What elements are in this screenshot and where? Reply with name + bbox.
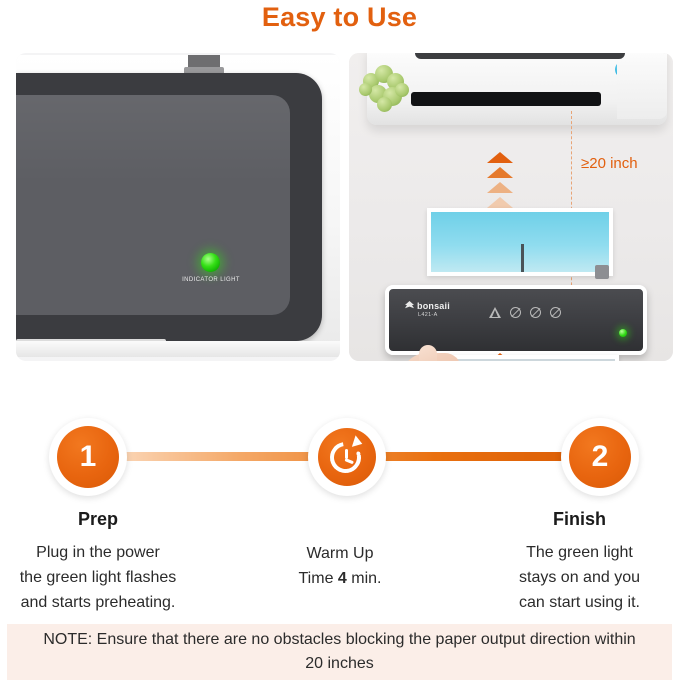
warning-symbol-row <box>489 307 561 318</box>
clock-timer-icon <box>327 437 367 477</box>
photo-tower-detail <box>521 244 524 272</box>
step-badge-1: 1 <box>57 426 119 488</box>
note-banner: NOTE: Ensure that there are no obstacles… <box>7 624 672 680</box>
warmup-value: 4 <box>338 570 347 587</box>
model-label: L421-A <box>418 312 438 318</box>
laminator-lid-frame: INDICATOR LIGHT <box>16 73 322 341</box>
warmup-lead: Warm Up <box>307 545 374 562</box>
brand-label: bonsaii <box>405 301 450 311</box>
step-text-finish: The green light stays on and you can sta… <box>480 540 679 615</box>
warmup-suffix: min. <box>347 570 382 587</box>
shelf-output-slot <box>411 92 601 106</box>
step-text-warmup: Warm UpTime 4 min. <box>240 541 440 591</box>
note-text: NOTE: Ensure that there are no obstacles… <box>35 628 644 676</box>
laminator-top-tab <box>188 55 220 75</box>
warmup-prefix: Time <box>299 570 338 587</box>
bonsaii-leaf-icon <box>405 301 414 310</box>
step-caption-1: Prep Plug in the power the green light f… <box>0 508 196 615</box>
laminator-lid-surface: INDICATOR LIGHT <box>16 95 290 315</box>
laminated-photo-output <box>427 208 613 276</box>
step-node-1[interactable]: 1 <box>49 418 127 496</box>
step-heading-prep: Prep <box>0 508 196 530</box>
laminator-closeup-body: INDICATOR LIGHT <box>16 55 340 357</box>
page-title: Easy to Use <box>0 0 679 34</box>
shelf-side-panel <box>617 59 667 119</box>
step-text-prep: Plug in the power the green light flashe… <box>0 540 196 615</box>
laminator-bottom-edge <box>16 341 340 357</box>
step-caption-2: Finish The green light stays on and you … <box>480 508 679 615</box>
prohibition-icon <box>530 307 541 318</box>
prohibition-icon <box>550 307 561 318</box>
power-plug <box>595 265 609 279</box>
step-node-warmup[interactable] <box>308 418 386 496</box>
chevron-up-icon <box>487 152 513 163</box>
infographic-page: Easy to Use INDICATOR LIGHT <box>0 0 679 684</box>
photo-sky <box>445 359 615 361</box>
step-badge-2: 2 <box>569 426 631 488</box>
clock-arrow-head <box>352 435 364 449</box>
prohibition-icon <box>510 307 521 318</box>
step-caption-warmup: Warm UpTime 4 min. <box>240 541 440 591</box>
step-heading-finish: Finish <box>480 508 679 530</box>
indicator-light-label: INDICATOR LIGHT <box>156 277 266 283</box>
photo-panel-clearance: ≥20 inch bonsaii L421-A <box>349 53 673 361</box>
warning-triangle-icon <box>489 307 501 318</box>
photo-panel-indicator: INDICATOR LIGHT <box>16 53 340 361</box>
chevron-up-icon <box>487 182 513 193</box>
chevron-up-icon <box>487 167 513 178</box>
green-indicator-led <box>201 253 220 272</box>
lid-highlight <box>16 95 290 183</box>
machine-green-led <box>619 329 627 337</box>
step-badge-warmup <box>318 428 376 486</box>
clearance-measure-label: ≥20 inch <box>581 155 638 172</box>
photo-being-inserted <box>441 355 619 361</box>
brand-name: bonsaii <box>417 301 450 311</box>
step-node-2[interactable]: 2 <box>561 418 639 496</box>
plant-decoration <box>357 59 419 115</box>
shelf-dark-top <box>415 53 625 59</box>
chevron-up-icon <box>487 197 513 208</box>
hand-finger <box>419 345 437 361</box>
